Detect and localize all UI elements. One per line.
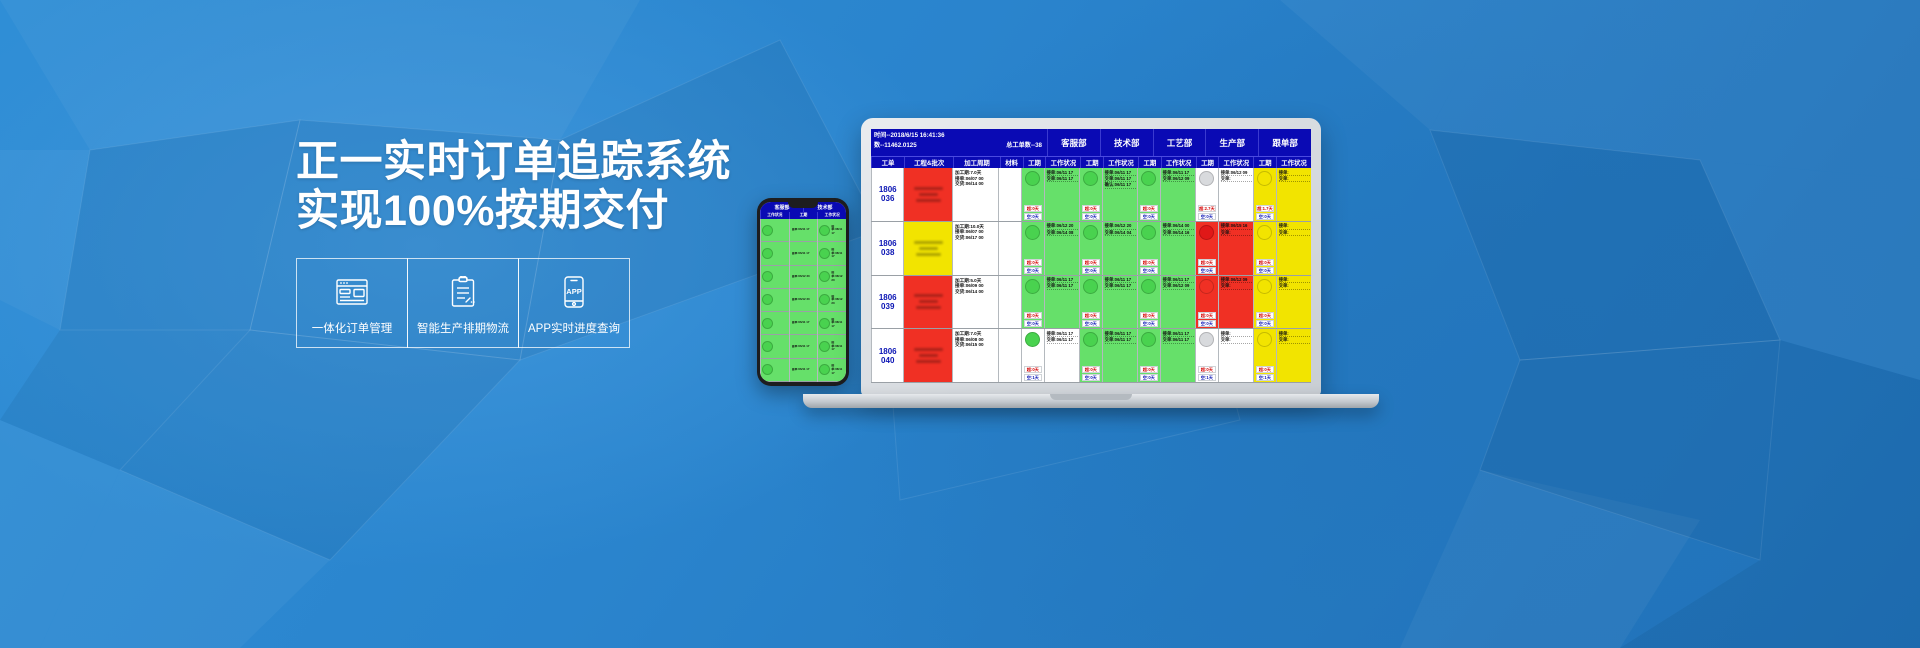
status-line: 交单:06/11 17 [1105,337,1136,343]
cell-work-status-4: 接单:交单: [1276,276,1311,329]
status-line: 交单:06/12 09 [1163,176,1194,182]
redacted-text [916,306,941,309]
status-indicator-dot [1257,225,1272,240]
badge-idle: 空:0天 [1256,320,1274,327]
column-header-duration-3: 工期 [1196,157,1219,168]
cell-duration-3: 超:0天空:0天 [1195,276,1218,329]
cell-processing-cycle: 加工期:5.0天接单:06/09 00交货:06/14 00 [952,276,998,329]
badge-idle: 空:0天 [1256,213,1274,220]
phone-list-item[interactable]: 接单:06/11 17 [818,242,846,265]
cell-processing-cycle: 加工期:7.0天接单:06/07 00交货:06/14 00 [952,168,998,221]
dashboard-meta: 时间--2018/6/15 16:41:36 数--11462.0125 总工单… [871,129,1047,156]
status-line: 交单: [1221,283,1252,289]
status-indicator-dot [1025,171,1040,186]
badge-overdue: 超:0天 [1140,205,1158,212]
phone-status-text: 接单:06/11 17 [792,252,810,256]
status-indicator-dot [819,225,830,236]
status-indicator-dot [819,341,830,352]
cell-work-status-3: 接单:交单: [1218,329,1253,382]
redacted-text [916,253,941,256]
cell-duration-0: 超:0天空:0天 [1021,222,1044,275]
column-header-duration-4: 工期 [1253,157,1276,168]
status-indicator-dot [1199,279,1214,294]
phone-list-item[interactable]: 接单:06/12 20 [790,266,818,289]
cell-work-status-3: 接单:06/12 09交单: [1218,276,1253,329]
badge-idle: 空:0天 [1198,320,1216,327]
column-header-duration-2: 工期 [1138,157,1161,168]
department-header-production: 生产部 [1205,129,1258,156]
redacted-text [914,348,943,351]
phone-list-item[interactable] [761,219,789,242]
page-title: 正一实时订单追踪系统 实现100%按期交付 [296,138,716,236]
phone-notch [788,202,818,208]
cell-duration-3: 超:2.7天空:0天 [1195,168,1218,221]
badge-overdue: 超:2.7天 [1198,205,1216,212]
cell-work-status-0: 接单:06/11 17交单:06/11 17 [1044,276,1079,329]
cell-project-batch [903,168,952,221]
dashboard-total-orders: 总工单数--38 [1006,141,1042,151]
badge-overdue: 超:0天 [1024,205,1042,212]
status-line: 交单:06/12 09 [1163,283,1194,289]
badge-overdue: 超:0天 [1256,312,1274,319]
cell-work-status-1: 接单:06/11 17交单:06/11 17 [1102,329,1137,382]
badge-overdue: 超:0天 [1198,259,1216,266]
cell-work-status-3: 接单:06/12 09交单: [1218,168,1253,221]
cell-material [998,329,1021,382]
status-indicator-dot [1025,225,1040,240]
badge-idle: 空:0天 [1082,267,1100,274]
status-line: 交单:06/14 16 [1163,230,1194,236]
badge-overdue: 超:0天 [1256,366,1274,373]
badge-idle: 空:0天 [1256,267,1274,274]
phone-status-text: 接单:06/11 17 [831,341,845,352]
badge-idle: 空:0天 [1140,320,1158,327]
feature-label-production-schedule: 智能生产排期物流 [417,320,509,336]
cell-work-status-1: 接单:06/11 17交单:06/11 17 [1102,276,1137,329]
status-line: 交单:06/14 04 [1105,230,1136,236]
cell-material [998,276,1021,329]
phone-status-text: 接单:06/11 17 [792,345,810,349]
feature-label-app-progress: APP实时进度查询 [528,320,620,336]
cell-work-status-2: 接单:06/11 17交单:06/11 17 [1160,329,1195,382]
phone-column-2: 接单:06/11 17接单:06/11 17接单:06/12 20接单:06/1… [817,219,846,382]
phone-status-text: 接单:06/12 20 [831,271,845,282]
phone-column-0 [760,219,789,382]
redacted-text [914,187,943,190]
badge-idle: 空:0天 [1198,267,1216,274]
badge-overdue: 超:0天 [1024,366,1042,373]
cell-work-status-2: 接单:06/14 00交单:06/14 16 [1160,222,1195,275]
phone-status-text: 接单:06/11 17 [831,364,845,375]
status-indicator-dot [1083,279,1098,294]
badge-overdue: 超:1.7天 [1256,205,1274,212]
status-indicator-dot [1025,279,1040,294]
phone-screen: 客服部 技术部 工作状况 工期 工作状况 接单:06/11 17接单:06/11… [760,202,846,382]
cell-duration-2: 超:0天空:0天 [1137,168,1160,221]
status-line: 交单: [1221,230,1252,236]
phone-list-item[interactable]: 接单:06/11 17 [818,335,846,358]
cell-work-status-0: 接单:06/11 17交单:06/11 17 [1044,329,1079,382]
phone-list-item[interactable] [761,312,789,335]
redacted-text [919,300,938,303]
feature-item-order-management[interactable]: 一体化订单管理 [296,258,408,348]
order-tracking-dashboard: 时间--2018/6/15 16:41:36 数--11462.0125 总工单… [871,129,1311,383]
cell-duration-0: 超:0天空:0天 [1021,168,1044,221]
badge-idle: 空:0天 [1024,267,1042,274]
phone-col-1: 工期 [789,212,818,219]
status-indicator-dot [819,294,830,305]
phone-list-item[interactable]: 接单:06/12 20 [818,289,846,312]
badge-overdue: 超:0天 [1024,312,1042,319]
cell-work-status-2: 接单:06/11 17交单:06/12 09 [1160,276,1195,329]
cell-duration-2: 超:0天空:0天 [1137,276,1160,329]
dashboard-table-body[interactable]: 1806036加工期:7.0天接单:06/07 00交货:06/14 00超:0… [871,168,1311,383]
status-line: 交单: [1221,176,1252,182]
status-indicator-dot [1083,332,1098,347]
feature-item-app-progress[interactable]: APP APP实时进度查询 [518,258,630,348]
headline-block: 正一实时订单追踪系统 实现100%按期交付 [296,138,716,236]
status-line: 交单:06/14 08 [1047,230,1078,236]
cell-duration-1: 超:0天空:0天 [1079,276,1102,329]
redacted-text [916,360,941,363]
cell-material [998,222,1021,275]
cell-order-number: 1806039 [871,276,903,329]
status-indicator-dot [762,248,773,259]
cell-material [998,168,1021,221]
cell-work-status-3: 接单:06/15 16交单: [1218,222,1253,275]
phone-list-item[interactable]: 接单:06/11 17 [790,335,818,358]
badge-idle: 空:0天 [1198,213,1216,220]
phone-col-2: 工作状况 [817,212,846,219]
redacted-text [919,354,938,357]
badge-overdue: 超:0天 [1082,312,1100,319]
status-indicator-dot [1199,225,1214,240]
phone-list-item[interactable]: 接单:06/12 20 [818,266,846,289]
badge-idle: 空:0天 [1140,267,1158,274]
department-header-process: 工艺部 [1153,129,1206,156]
phone-status-text: 接单:06/11 17 [831,318,845,329]
status-indicator-dot [819,318,830,329]
cell-duration-3: 超:0天空:0天 [1195,222,1218,275]
cell-duration-2: 超:0天空:0天 [1137,222,1160,275]
table-row[interactable]: 1806038加工期:10.0天接单:06/07 00交货:06/17 00超:… [871,222,1311,276]
phone-status-text: 接单:06/12 20 [792,275,810,279]
department-header-row: 客服部 技术部 工艺部 生产部 跟单部 [1047,129,1311,156]
status-line: 交单:06/11 17 [1047,337,1078,343]
redacted-text [919,193,938,196]
phone-mockup: 客服部 技术部 工作状况 工期 工作状况 接单:06/11 17接单:06/11… [757,198,849,386]
status-indicator-dot [1141,225,1156,240]
headline-line-1: 正一实时订单追踪系统 [296,138,731,186]
phone-column-1: 接单:06/11 17接单:06/11 17接单:06/12 20接单:06/1… [789,219,818,382]
status-indicator-dot [762,341,773,352]
status-indicator-dot [819,248,830,259]
status-indicator-dot [1199,332,1214,347]
phone-column-header: 工作状况 工期 工作状况 [760,212,846,219]
badge-idle: 空:1天 [1024,374,1042,381]
column-header-project: 工程&批次 [904,157,953,168]
cell-processing-cycle: 加工期:7.0天接单:06/08 00交货:06/15 00 [952,329,998,382]
cell-work-status-0: 接单:06/11 17交单:06/11 17 [1044,168,1079,221]
laptop-trackpad-notch [1050,394,1132,400]
laptop-mockup: 时间--2018/6/15 16:41:36 数--11462.0125 总工单… [861,118,1321,418]
status-line: 交单: [1279,176,1310,182]
phone-list-item[interactable]: 接单:06/11 17 [818,312,846,335]
column-header-status-0: 工作状况 [1045,157,1080,168]
status-indicator-dot [1199,171,1214,186]
cell-project-batch [903,276,952,329]
status-line: 交单: [1279,337,1310,343]
phone-list-item[interactable]: 接单:06/11 17 [790,312,818,335]
cell-project-batch [903,222,952,275]
dashboard-window-icon [335,270,369,314]
headline-line-2: 实现100%按期交付 [296,187,716,236]
cell-duration-4: 超:0天空:0天 [1253,276,1276,329]
badge-idle: 空:0天 [1140,213,1158,220]
laptop-lid: 时间--2018/6/15 16:41:36 数--11462.0125 总工单… [861,118,1321,396]
phone-table-body[interactable]: 接单:06/11 17接单:06/11 17接单:06/12 20接单:06/1… [760,219,846,382]
clipboard-schedule-icon [448,270,478,314]
column-header-status-4: 工作状况 [1276,157,1311,168]
cell-duration-1: 超:0天空:0天 [1079,222,1102,275]
dashboard-time: 时间--2018/6/15 16:41:36 [874,131,1044,141]
phone-status-text: 接单:06/11 17 [831,225,845,236]
badge-overdue: 超:0天 [1198,312,1216,319]
phone-status-text: 接单:06/11 17 [792,368,810,372]
badge-idle: 空:1天 [1256,374,1274,381]
cell-processing-cycle: 加工期:10.0天接单:06/07 00交货:06/17 00 [952,222,998,275]
status-indicator-dot [1141,332,1156,347]
dashboard-header: 时间--2018/6/15 16:41:36 数--11462.0125 总工单… [871,129,1311,156]
table-row[interactable]: 1806036加工期:7.0天接单:06/07 00交货:06/14 00超:0… [871,168,1311,222]
phone-list-item[interactable] [761,266,789,289]
status-indicator-dot [819,364,830,375]
feature-item-production-schedule[interactable]: 智能生产排期物流 [407,258,519,348]
status-line: 交单: [1279,230,1310,236]
department-header-customer-service: 客服部 [1047,129,1100,156]
redacted-text [916,199,941,202]
feature-label-order-management: 一体化订单管理 [312,320,393,336]
badge-overdue: 超:0天 [1082,205,1100,212]
status-indicator-dot [1257,279,1272,294]
table-row[interactable]: 1806040加工期:7.0天接单:06/08 00交货:06/15 00超:0… [871,329,1311,383]
redacted-text [914,294,943,297]
badge-idle: 空:0天 [1082,213,1100,220]
laptop-screen: 时间--2018/6/15 16:41:36 数--11462.0125 总工单… [871,129,1311,383]
column-header-row: 工单工程&批次加工周期材料工期工作状况工期工作状况工期工作状况工期工作状况工期工… [871,156,1311,168]
cell-duration-0: 超:0天空:0天 [1021,276,1044,329]
status-indicator-dot [1141,279,1156,294]
dashboard-number: 数--11462.0125 [874,141,917,151]
badge-idle: 空:0天 [1082,374,1100,381]
badge-idle: 空:1天 [1198,374,1216,381]
cell-work-status-1: 接单:06/11 17交单:06/11 17确认:06/11 17 [1102,168,1137,221]
phone-status-text: 接单:06/11 17 [831,248,845,259]
cell-work-status-2: 接单:06/11 17交单:06/12 09 [1160,168,1195,221]
phone-status-text: 接单:06/12 20 [792,298,810,302]
svg-text:APP: APP [566,287,581,296]
badge-idle: 空:0天 [1140,374,1158,381]
badge-overdue: 超:0天 [1140,259,1158,266]
cell-work-status-4: 接单:交单: [1276,329,1311,382]
status-indicator-dot [1257,171,1272,186]
badge-overdue: 超:0天 [1198,366,1216,373]
badge-overdue: 超:0天 [1024,259,1042,266]
cell-duration-4: 超:0天空:1天 [1253,329,1276,382]
cell-order-number: 1806038 [871,222,903,275]
cell-duration-2: 超:0天空:0天 [1137,329,1160,382]
badge-idle: 空:0天 [1024,320,1042,327]
cell-work-status-4: 接单:交单: [1276,168,1311,221]
phone-list-item[interactable]: 接单:06/11 17 [790,219,818,242]
phone-list-item[interactable] [761,359,789,382]
phone-list-item[interactable] [761,242,789,265]
cell-duration-0: 超:0天空:1天 [1021,329,1044,382]
status-indicator-dot [762,364,773,375]
phone-list-item[interactable] [761,335,789,358]
status-line: 交单:06/11 17 [1047,283,1078,289]
phone-status-text: 接单:06/11 17 [792,228,810,232]
redacted-text [919,247,938,250]
badge-idle: 空:0天 [1024,213,1042,220]
cell-work-status-1: 接单:06/12 20交单:06/14 04 [1102,222,1137,275]
column-header-cycle: 加工周期 [953,157,999,168]
column-header-order: 工单 [871,157,904,168]
status-line: 交单:06/11 17 [1047,176,1078,182]
status-line: 确认:06/11 17 [1105,182,1136,188]
status-indicator-dot [762,271,773,282]
status-indicator-dot [819,271,830,282]
phone-list-item[interactable]: 接单:06/11 17 [790,242,818,265]
cell-project-batch [903,329,952,382]
status-line: 交单:06/11 17 [1163,337,1194,343]
department-header-technical: 技术部 [1100,129,1153,156]
column-header-material: 材料 [1000,157,1023,168]
cell-work-status-4: 接单:交单: [1276,222,1311,275]
badge-idle: 空:0天 [1082,320,1100,327]
department-header-merchandising: 跟单部 [1258,129,1311,156]
phone-list-item[interactable]: 接单:06/11 17 [818,359,846,382]
cell-duration-4: 超:0天空:0天 [1253,222,1276,275]
banner-stage: 正一实时订单追踪系统 实现100%按期交付 一体化订单管理 [0,0,1920,648]
cell-work-status-0: 接单:06/12 20交单:06/14 08 [1044,222,1079,275]
column-header-status-1: 工作状况 [1103,157,1138,168]
status-indicator-dot [1083,225,1098,240]
phone-list-item[interactable]: 接单:06/11 17 [790,359,818,382]
column-header-duration-0: 工期 [1023,157,1046,168]
status-line: 交单: [1279,283,1310,289]
badge-overdue: 超:0天 [1082,259,1100,266]
column-header-duration-1: 工期 [1080,157,1103,168]
table-row[interactable]: 1806039加工期:5.0天接单:06/09 00交货:06/14 00超:0… [871,276,1311,330]
phone-status-text: 接单:06/12 20 [831,295,845,306]
status-indicator-dot [1257,332,1272,347]
badge-overdue: 超:0天 [1082,366,1100,373]
status-indicator-dot [1083,171,1098,186]
status-line: 交单:06/11 17 [1105,283,1136,289]
redacted-text [914,241,943,244]
feature-list: 一体化订单管理 智能生产排期物流 [296,258,629,348]
phone-status-text: 接单:06/11 17 [792,321,810,325]
column-header-status-2: 工作状况 [1161,157,1196,168]
cell-duration-1: 超:0天空:0天 [1079,168,1102,221]
status-indicator-dot [1025,332,1040,347]
cell-order-number: 1806036 [871,168,903,221]
phone-col-0: 工作状况 [760,212,789,219]
phone-list-item[interactable]: 接单:06/11 17 [818,219,846,242]
phone-list-item[interactable]: 接单:06/12 20 [790,289,818,312]
status-indicator-dot [762,225,773,236]
column-header-status-3: 工作状况 [1218,157,1253,168]
phone-list-item[interactable] [761,289,789,312]
badge-overdue: 超:0天 [1256,259,1274,266]
status-indicator-dot [762,318,773,329]
mobile-app-icon: APP [561,270,587,314]
cell-duration-1: 超:0天空:0天 [1079,329,1102,382]
badge-overdue: 超:0天 [1140,366,1158,373]
status-indicator-dot [1141,171,1156,186]
status-line: 交单: [1221,337,1252,343]
cell-duration-3: 超:0天空:1天 [1195,329,1218,382]
cell-order-number: 1806040 [871,329,903,382]
status-indicator-dot [762,294,773,305]
cell-duration-4: 超:1.7天空:0天 [1253,168,1276,221]
badge-overdue: 超:0天 [1140,312,1158,319]
